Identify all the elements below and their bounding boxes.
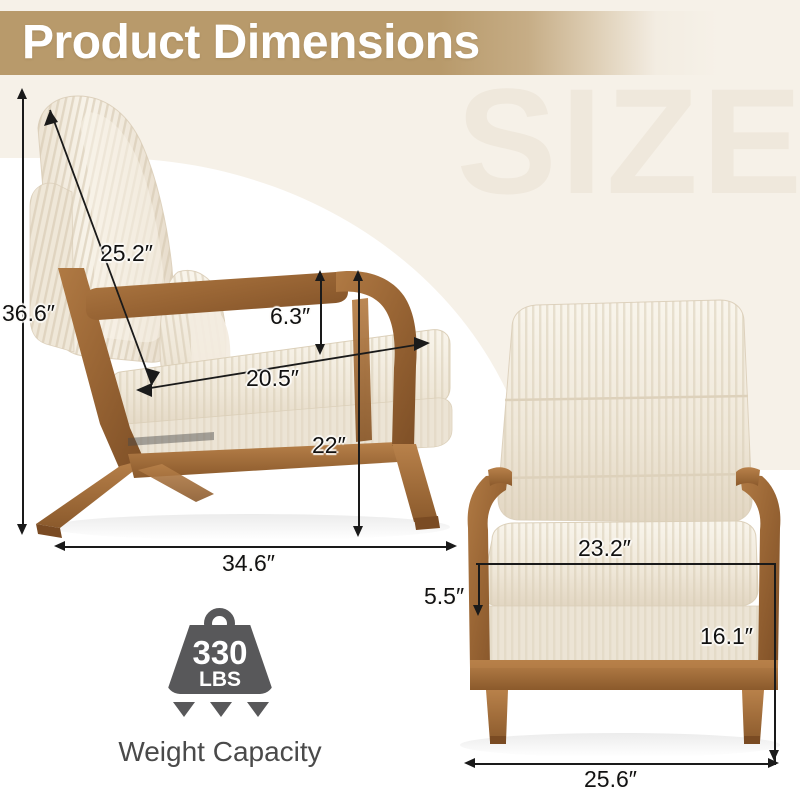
down-triangle-icon-3: [247, 702, 269, 717]
weight-capacity-value: 330: [160, 636, 280, 669]
arrow-cushion-thickness: [473, 605, 483, 616]
dimension-label-overall-width: 25.6″: [584, 766, 637, 793]
dimension-label-cushion-thickness: 5.5″: [424, 583, 464, 610]
arrow-arm-height-bottom: [353, 526, 363, 537]
arrow-overall-depth-left: [54, 541, 65, 551]
arrow-overall-width-left: [464, 758, 475, 768]
arrow-overall-width-right: [768, 758, 779, 768]
weight-capacity-badge: 330 LBS Weight Capacity: [160, 608, 280, 694]
dimension-label-overall-height: 36.6″: [2, 300, 55, 327]
dimension-line-overall-width: [472, 763, 772, 765]
down-triangle-icon-2: [210, 702, 232, 717]
page-title: Product Dimensions: [22, 14, 480, 72]
dimension-line-cushion-thickness: [478, 563, 480, 609]
dimension-label-seat-height: 16.1″: [700, 623, 753, 650]
dimension-label-back-height: 25.2″: [100, 240, 153, 267]
arrow-overall-height-top: [17, 88, 27, 99]
dimension-line-seat-width: [476, 563, 776, 565]
dimension-label-arm-height: 22″: [312, 432, 346, 459]
weight-capacity-unit: LBS: [160, 669, 280, 690]
arrow-arm-to-seat-top: [315, 270, 325, 281]
arrow-arm-height-top: [353, 270, 363, 281]
product-dimensions-infographic: SIZE Product Dimensions: [0, 0, 800, 800]
dimension-line-arm-to-seat: [320, 278, 322, 350]
side-view-chair-graphic: [30, 96, 452, 538]
chair-illustrations: [0, 0, 800, 800]
down-triangle-icon-1: [173, 702, 195, 717]
dimension-label-seat-width: 23.2″: [578, 535, 631, 562]
weight-capacity-caption: Weight Capacity: [110, 736, 330, 768]
weight-icon: 330 LBS: [160, 608, 280, 694]
dimension-line-overall-depth: [62, 546, 450, 548]
dimension-line-seat-height: [774, 563, 776, 765]
arrow-overall-depth-right: [446, 541, 457, 551]
arrow-arm-to-seat-bottom: [315, 344, 325, 355]
weight-arrows-row: [173, 702, 269, 717]
dimension-label-arm-to-seat: 6.3″: [270, 303, 310, 330]
arrow-overall-height-bottom: [17, 524, 27, 535]
front-view-chair-graphic: [468, 300, 781, 744]
dimension-label-seat-depth: 20.5″: [246, 365, 299, 392]
dimension-line-arm-height: [358, 278, 360, 532]
dimension-label-overall-depth: 34.6″: [222, 550, 275, 577]
